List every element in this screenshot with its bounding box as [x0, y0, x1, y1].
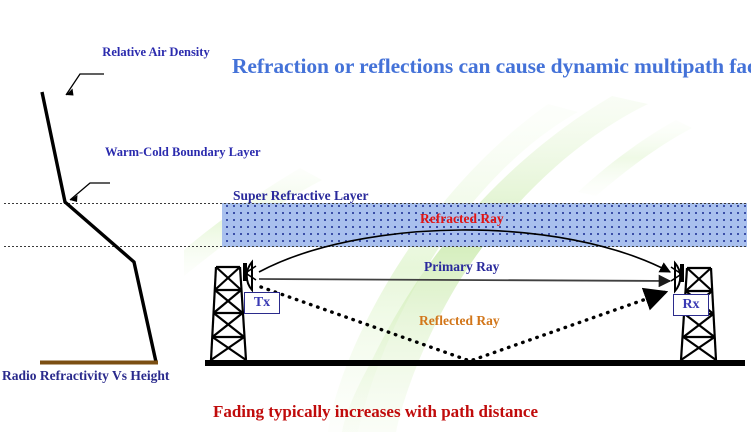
rx-antenna-dish	[671, 263, 684, 291]
primary-ray-path	[259, 279, 670, 281]
label-relative-air-density: Relative Air Density	[100, 45, 212, 59]
label-super-refractive-layer: Super Refractive Layer	[233, 188, 368, 203]
tx-tower	[211, 267, 246, 360]
label-reflected-ray: Reflected Ray	[419, 313, 500, 328]
label-refracted-ray: Refracted Ray	[420, 211, 504, 226]
ground-line	[205, 360, 745, 366]
label-primary-ray: Primary Ray	[424, 259, 499, 274]
tx-antenna-dish	[243, 262, 256, 290]
label-radio-refractivity-vs-height: Radio Refractivity Vs Height	[2, 368, 169, 383]
label-warm-cold-boundary-layer: Warm-Cold Boundary Layer	[105, 145, 211, 159]
page-title: Refraction or reflections can cause dyna…	[232, 54, 728, 78]
transmitter-label-box: Tx	[244, 292, 280, 314]
footer-caption: Fading typically increases with path dis…	[0, 402, 751, 421]
diagram-canvas: Refraction or reflections can cause dyna…	[0, 0, 751, 432]
receiver-label-box: Rx	[673, 294, 709, 316]
